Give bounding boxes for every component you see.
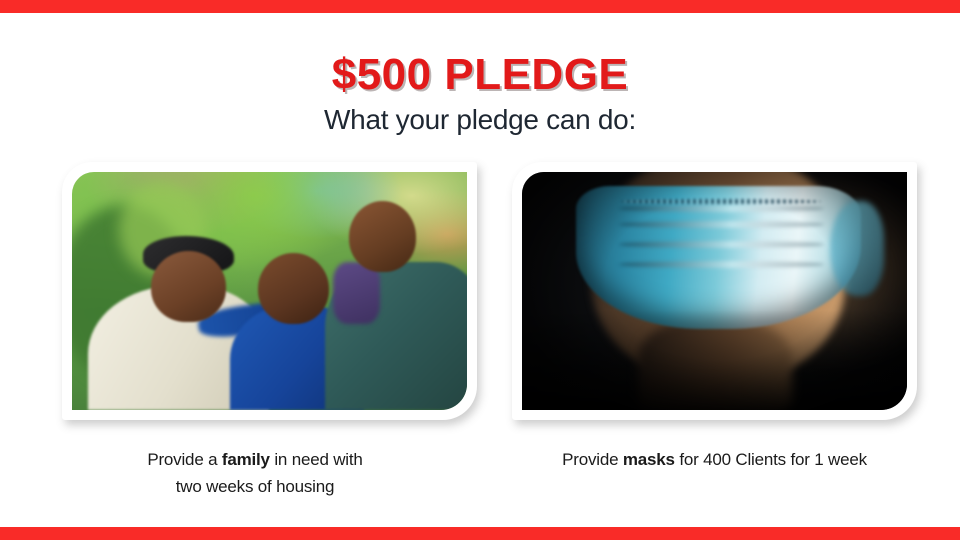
caption-masks-text-after: for 400 Clients for 1 week (675, 450, 867, 469)
pledge-slide: $500 PLEDGE What your pledge can do: Pro… (0, 0, 960, 540)
pledge-card-masks (512, 162, 917, 420)
caption-family-emphasis: family (222, 450, 270, 469)
photo-vignette (522, 172, 907, 410)
teen-scarf-shape (333, 262, 380, 324)
caption-masks-emphasis: masks (623, 450, 675, 469)
mask-photo (522, 172, 907, 410)
page-title: $500 PLEDGE (0, 52, 960, 98)
top-accent-bar (0, 0, 960, 13)
caption-family-text-before: Provide a (147, 450, 222, 469)
caption-masks: Provide masks for 400 Clients for 1 week (512, 446, 917, 473)
teen-head-shape (349, 201, 416, 272)
caption-masks-text-before: Provide (562, 450, 623, 469)
family-photo (72, 172, 467, 410)
boy-head-shape (258, 253, 329, 324)
pledge-card-family (62, 162, 477, 420)
caption-family: Provide a family in need with two weeks … (62, 446, 448, 500)
page-subtitle: What your pledge can do: (0, 104, 960, 136)
heading-block: $500 PLEDGE What your pledge can do: (0, 52, 960, 136)
caption-family-line2: two weeks of housing (176, 477, 335, 496)
bottom-accent-bar (0, 527, 960, 540)
caption-family-text-after: in need with (270, 450, 363, 469)
mother-head-shape (151, 251, 226, 322)
